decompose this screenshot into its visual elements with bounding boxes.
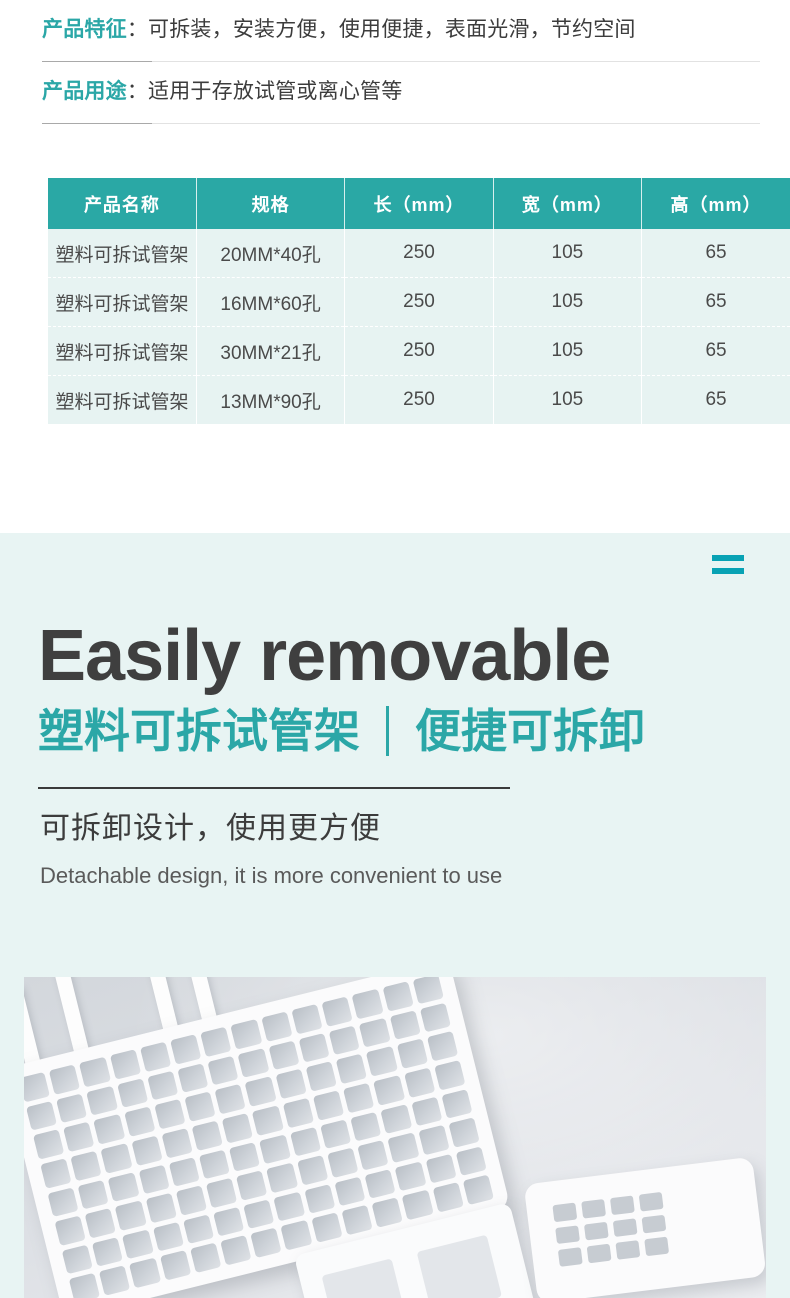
rack-hole bbox=[425, 1154, 456, 1184]
rack-hole bbox=[69, 1273, 100, 1298]
rack-hole bbox=[154, 1099, 185, 1129]
table-header-cell: 宽（mm） bbox=[493, 178, 641, 229]
rack-hole bbox=[206, 1178, 237, 1208]
rack-hole bbox=[558, 1248, 583, 1267]
rack-hole bbox=[343, 1083, 374, 1113]
rack-hole bbox=[92, 1237, 123, 1267]
rack-hole bbox=[40, 1158, 71, 1188]
rack-hole bbox=[350, 1111, 381, 1141]
rack-hole bbox=[99, 1266, 130, 1296]
table-cell-length: 250 bbox=[345, 229, 493, 278]
rack-hole bbox=[213, 1207, 244, 1237]
rack-hole bbox=[147, 1070, 178, 1100]
rack-hole bbox=[170, 1034, 201, 1064]
table-cell-width: 105 bbox=[493, 327, 641, 376]
rack-hole bbox=[434, 1060, 465, 1090]
rack-hole bbox=[222, 1113, 253, 1143]
rack-hole bbox=[290, 1126, 321, 1156]
table-cell-length: 250 bbox=[345, 278, 493, 327]
rack-hole bbox=[297, 1155, 328, 1185]
table-cell-name: 塑料可拆试管架 bbox=[48, 229, 196, 278]
rack-hole bbox=[78, 1179, 109, 1209]
rack-hole bbox=[463, 1175, 494, 1205]
table-cell-width: 105 bbox=[493, 376, 641, 425]
rack-hole bbox=[177, 1063, 208, 1093]
table-cell-width: 105 bbox=[493, 278, 641, 327]
rack-hole bbox=[641, 1214, 666, 1233]
rack-hole bbox=[313, 1090, 344, 1120]
rack-hole bbox=[298, 1033, 329, 1063]
rack-hole bbox=[124, 1107, 155, 1137]
rack-hole bbox=[555, 1225, 580, 1244]
rack-hole bbox=[275, 1069, 306, 1099]
table-cell-name: 塑料可拆试管架 bbox=[48, 278, 196, 327]
rack-hole bbox=[404, 1068, 435, 1098]
rack-hole bbox=[366, 1046, 397, 1076]
rack-hole bbox=[336, 1054, 367, 1084]
rack-base-window bbox=[417, 1235, 502, 1298]
rack-hole bbox=[267, 1163, 298, 1193]
rack-hole bbox=[55, 1216, 86, 1246]
spec-table: 产品名称 规格 长（mm） 宽（mm） 高（mm） 塑料可拆试管架 20MM*4… bbox=[48, 178, 790, 424]
rack-hole bbox=[274, 1191, 305, 1221]
rack-hole bbox=[160, 1250, 191, 1280]
table-header-cell: 产品名称 bbox=[48, 178, 196, 229]
rack-hole bbox=[176, 1185, 207, 1215]
spec-colon: ： bbox=[127, 80, 148, 103]
table-row: 塑料可拆试管架 16MM*60孔 250 105 65 bbox=[48, 278, 790, 327]
rack-hole bbox=[615, 1240, 640, 1259]
rack-hole bbox=[215, 1084, 246, 1114]
rack-hole bbox=[455, 1146, 486, 1176]
rack-hole bbox=[320, 1119, 351, 1149]
rack-hole bbox=[56, 1093, 87, 1123]
rack-hole bbox=[639, 1192, 664, 1211]
rack-hole bbox=[236, 1170, 267, 1200]
rack-hole bbox=[26, 1101, 57, 1131]
rack-hole bbox=[138, 1164, 169, 1194]
rack-hole bbox=[388, 1133, 419, 1163]
rack-hole bbox=[231, 1019, 262, 1049]
spec-value-usage: 适用于存放试管或离心管等 bbox=[148, 80, 402, 103]
rack-base-window bbox=[322, 1258, 407, 1298]
table-cell-length: 250 bbox=[345, 327, 493, 376]
spec-row-usage: 产品用途：适用于存放试管或离心管等 bbox=[24, 62, 766, 114]
spec-row-features: 产品特征：可拆装，安装方便，使用便捷，表面光滑，节约空间 bbox=[24, 0, 766, 52]
rack-hole bbox=[581, 1199, 606, 1218]
table-cell-height: 65 bbox=[642, 376, 790, 425]
product-photo bbox=[24, 977, 766, 1298]
hero-chinese-title-right: 便捷可拆卸 bbox=[415, 701, 645, 761]
rack-hole bbox=[252, 1105, 283, 1135]
rack-hole bbox=[101, 1143, 132, 1173]
equals-mark-icon bbox=[712, 555, 744, 581]
spec-label-usage: 产品用途 bbox=[42, 80, 127, 103]
rack-hole bbox=[259, 1134, 290, 1164]
rack-hole bbox=[365, 1169, 396, 1199]
table-row: 塑料可拆试管架 30MM*21孔 250 105 65 bbox=[48, 327, 790, 376]
product-spec-section: 产品特征：可拆装，安装方便，使用便捷，表面光滑，节约空间 产品用途：适用于存放试… bbox=[0, 0, 790, 533]
rack-hole bbox=[161, 1128, 192, 1158]
rack-hole bbox=[412, 977, 443, 1004]
rack-hole bbox=[85, 1208, 116, 1238]
hero-chinese-title-left: 塑料可拆试管架 bbox=[38, 701, 360, 761]
table-cell-width: 105 bbox=[493, 229, 641, 278]
rack-hole bbox=[357, 1140, 388, 1170]
rack-hole bbox=[62, 1244, 93, 1274]
hero-subtitle-english: Detachable design, it is more convenient… bbox=[40, 859, 766, 893]
rack-hole bbox=[192, 1120, 223, 1150]
rack-hole bbox=[411, 1096, 442, 1126]
table-cell-spec: 16MM*60孔 bbox=[196, 278, 344, 327]
hero-chinese-title: 塑料可拆试管架 便捷可拆卸 bbox=[38, 701, 766, 761]
rack-hole bbox=[131, 1135, 162, 1165]
rack-hole bbox=[359, 1018, 390, 1048]
rack-hole bbox=[322, 996, 353, 1026]
rack-hole bbox=[117, 1078, 148, 1108]
rack-hole bbox=[352, 989, 383, 1019]
table-row: 塑料可拆试管架 20MM*40孔 250 105 65 bbox=[48, 229, 790, 278]
rack-detached-hole-grid bbox=[552, 1192, 669, 1267]
spec-line: 产品用途：适用于存放试管或离心管等 bbox=[42, 70, 766, 114]
rack-hole bbox=[169, 1157, 200, 1187]
table-cell-height: 65 bbox=[642, 229, 790, 278]
table-cell-height: 65 bbox=[642, 278, 790, 327]
spec-colon: ： bbox=[127, 18, 148, 41]
rack-hole bbox=[129, 1258, 160, 1288]
rack-hole bbox=[334, 1176, 365, 1206]
rack-hole bbox=[86, 1086, 117, 1116]
table-cell-name: 塑料可拆试管架 bbox=[48, 327, 196, 376]
rack-hole bbox=[441, 1089, 472, 1119]
rack-hole bbox=[372, 1198, 403, 1228]
rack-hole bbox=[306, 1061, 337, 1091]
rack-hole bbox=[420, 1002, 451, 1032]
spec-label-features: 产品特征 bbox=[42, 18, 127, 41]
rack-hole bbox=[220, 1235, 251, 1265]
rack-hole bbox=[190, 1243, 221, 1273]
rack-hole bbox=[610, 1195, 635, 1214]
rack-hole bbox=[251, 1228, 282, 1258]
rack-hole bbox=[71, 1151, 102, 1181]
rack-hole bbox=[396, 1039, 427, 1069]
rack-hole bbox=[402, 1190, 433, 1220]
rack-hole bbox=[115, 1201, 146, 1231]
table-cell-spec: 20MM*40孔 bbox=[196, 229, 344, 278]
rack-hole bbox=[311, 1213, 342, 1243]
table-row: 塑料可拆试管架 13MM*90孔 250 105 65 bbox=[48, 376, 790, 425]
rack-hole bbox=[382, 981, 413, 1011]
rack-hole bbox=[33, 1129, 64, 1159]
table-header-cell: 长（mm） bbox=[345, 178, 493, 229]
rack-hole bbox=[243, 1199, 274, 1229]
rack-hole bbox=[418, 1125, 449, 1155]
rack-hole bbox=[432, 1182, 463, 1212]
title-separator-bar bbox=[386, 706, 389, 756]
rack-hole bbox=[94, 1114, 125, 1144]
rack-hole bbox=[291, 1004, 322, 1034]
rack-hole bbox=[327, 1148, 358, 1178]
rack-hole bbox=[395, 1161, 426, 1191]
hero-divider bbox=[38, 787, 510, 789]
rack-hole bbox=[199, 1149, 230, 1179]
table-cell-spec: 30MM*21孔 bbox=[196, 327, 344, 376]
spec-divider-2 bbox=[42, 123, 760, 124]
rack-hole bbox=[427, 1031, 458, 1061]
rack-hole bbox=[283, 1098, 314, 1128]
rack-hole bbox=[140, 1042, 171, 1072]
rack-hole bbox=[268, 1040, 299, 1070]
rack-hole bbox=[153, 1222, 184, 1252]
table-header-cell: 高（mm） bbox=[642, 178, 790, 229]
rack-hole bbox=[304, 1184, 335, 1214]
rack-hole bbox=[644, 1237, 669, 1256]
rack-hole bbox=[24, 1072, 50, 1102]
rack-hole bbox=[261, 1011, 292, 1041]
rack-hole bbox=[373, 1075, 404, 1105]
rack-hole bbox=[245, 1077, 276, 1107]
table-header-row: 产品名称 规格 长（mm） 宽（mm） 高（mm） bbox=[48, 178, 790, 229]
equals-bar-bottom bbox=[712, 568, 744, 574]
rack-hole bbox=[613, 1218, 638, 1237]
equals-bar-top bbox=[712, 555, 744, 561]
rack-hole bbox=[584, 1221, 609, 1240]
rack-hole bbox=[238, 1048, 269, 1078]
spec-table-head: 产品名称 规格 长（mm） 宽（mm） 高（mm） bbox=[48, 178, 790, 229]
rack-hole bbox=[229, 1142, 260, 1172]
rack-hole bbox=[448, 1117, 479, 1147]
rack-hole bbox=[208, 1055, 239, 1085]
rack-hole bbox=[200, 1027, 231, 1057]
rack-hole bbox=[381, 1104, 412, 1134]
rack-hole bbox=[341, 1205, 372, 1235]
rack-hole bbox=[552, 1203, 577, 1222]
table-cell-spec: 13MM*90孔 bbox=[196, 376, 344, 425]
rack-hole bbox=[63, 1122, 94, 1152]
rack-hole bbox=[389, 1010, 420, 1040]
spec-line: 产品特征：可拆装，安装方便，使用便捷，表面光滑，节约空间 bbox=[42, 8, 766, 52]
rack-hole bbox=[183, 1214, 214, 1244]
hero-english-title: Easily removable bbox=[38, 617, 766, 695]
table-header-cell: 规格 bbox=[196, 178, 344, 229]
rack-hole bbox=[47, 1187, 78, 1217]
rack-hole bbox=[122, 1229, 153, 1259]
rack-hole bbox=[79, 1057, 110, 1087]
rack-hole bbox=[49, 1064, 80, 1094]
hero-subtitle-chinese: 可拆卸设计，使用更方便 bbox=[40, 805, 766, 853]
rack-hole bbox=[110, 1049, 141, 1079]
table-cell-name: 塑料可拆试管架 bbox=[48, 376, 196, 425]
rack-hole bbox=[184, 1092, 215, 1122]
rack-hole bbox=[108, 1172, 139, 1202]
rack-hole bbox=[587, 1244, 612, 1263]
spec-table-body: 塑料可拆试管架 20MM*40孔 250 105 65 塑料可拆试管架 16MM… bbox=[48, 229, 790, 424]
table-cell-height: 65 bbox=[642, 327, 790, 376]
spec-table-wrapper: 产品名称 规格 长（mm） 宽（mm） 高（mm） 塑料可拆试管架 20MM*4… bbox=[24, 178, 766, 424]
table-cell-length: 250 bbox=[345, 376, 493, 425]
rack-hole bbox=[145, 1193, 176, 1223]
rack-hole bbox=[329, 1025, 360, 1055]
spec-value-features: 可拆装，安装方便，使用便捷，表面光滑，节约空间 bbox=[148, 18, 636, 41]
rack-hole bbox=[281, 1220, 312, 1250]
hero-content: Easily removable 塑料可拆试管架 便捷可拆卸 可拆卸设计，使用更… bbox=[24, 533, 766, 893]
